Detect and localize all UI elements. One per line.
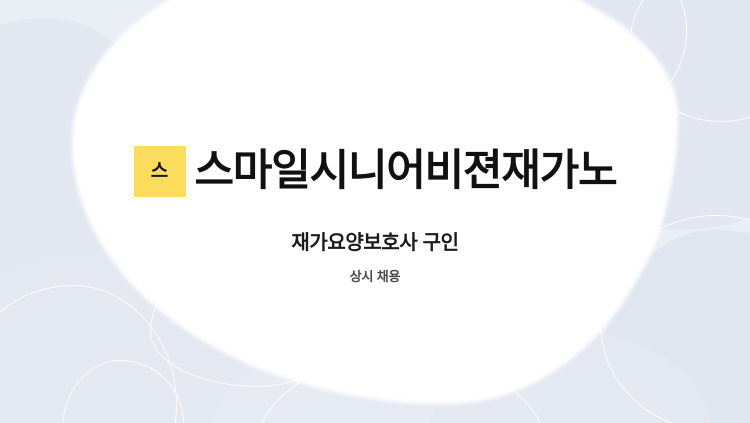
company-name: 스마일시니어비젼재가노 bbox=[195, 150, 617, 193]
job-posting-card: 스 스마일시니어비젼재가노 재가요양보호사 구인 상시 채용 bbox=[0, 0, 750, 423]
company-header: 스 스마일시니어비젼재가노 bbox=[0, 146, 750, 197]
card-content: 스 스마일시니어비젼재가노 재가요양보호사 구인 상시 채용 bbox=[0, 0, 750, 423]
position-title: 재가요양보호사 구인 bbox=[0, 226, 750, 255]
company-logo-badge: 스 bbox=[134, 146, 186, 197]
hiring-status: 상시 채용 bbox=[0, 266, 750, 285]
